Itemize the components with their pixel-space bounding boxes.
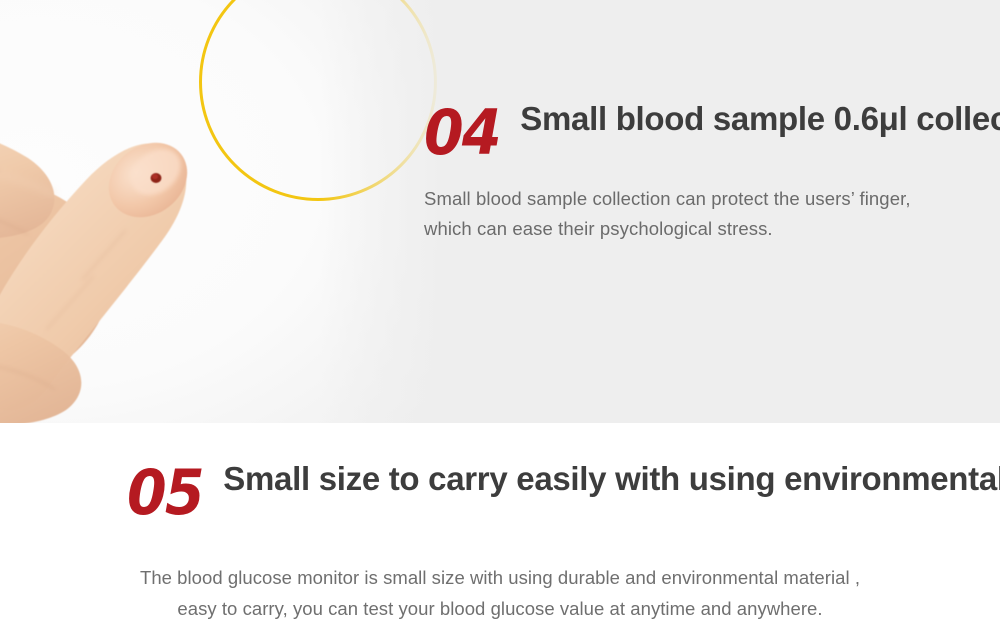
feature-05-headline-row: 05 Small size to carry easily with using… — [127, 460, 887, 524]
feature-04-body: Small blood sample collection can protec… — [424, 184, 994, 244]
feature-05-text: 05 Small size to carry easily with using… — [127, 460, 887, 524]
feature-05-body: The blood glucose monitor is small size … — [0, 563, 1000, 624]
feature-04-text: 04 Small blood sample 0.6μl collection w… — [424, 100, 994, 244]
feature-05-body-line1: The blood glucose monitor is small size … — [0, 563, 1000, 594]
feature-04-headline-line2: collection with no pain — [916, 100, 1000, 137]
feature-04-headline-row: 04 Small blood sample 0.6μl collection w… — [424, 100, 994, 164]
feature-05-headline-line1: Small size to carry easily — [223, 460, 606, 497]
feature-04-number: 04 — [424, 103, 500, 164]
feature-section-04: 04 Small blood sample 0.6μl collection w… — [0, 0, 1000, 423]
hand-photo — [0, 0, 470, 423]
feature-05-headline: Small size to carry easily with using en… — [223, 460, 1000, 497]
feature-05-number: 05 — [127, 463, 203, 524]
feature-04-body-line1: Small blood sample collection can protec… — [424, 184, 994, 214]
feature-04-body-line2: which can ease their psychological stres… — [424, 214, 994, 244]
feature-04-headline: Small blood sample 0.6μl collection with… — [520, 100, 1000, 137]
product-feature-page: 04 Small blood sample 0.6μl collection w… — [0, 0, 1000, 637]
feature-04-headline-line1: Small blood sample 0.6μl — [520, 100, 907, 137]
feature-05-body-line2: easy to carry, you can test your blood g… — [0, 594, 1000, 625]
feature-05-headline-line2: with using environmental material — [615, 460, 1000, 497]
feature-section-05: 05 Small size to carry easily with using… — [0, 423, 1000, 637]
